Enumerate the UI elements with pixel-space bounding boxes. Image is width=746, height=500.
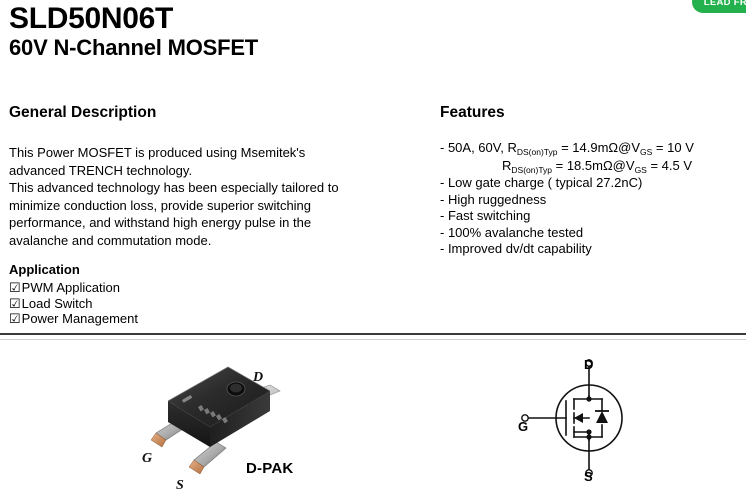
spec1-subscript-1: DS(on)Typ <box>517 147 558 157</box>
application-heading: Application <box>9 262 80 277</box>
feature-bullet: - High ruggedness <box>440 192 740 209</box>
part-number: SLD50N06T <box>9 2 258 35</box>
application-list: ☑PWM Application ☑Load Switch ☑Power Man… <box>9 280 138 327</box>
source-junction-dot <box>586 434 591 439</box>
spec2-subscript-2: GS <box>635 165 647 175</box>
channel-arrow-head <box>574 413 583 423</box>
symbol-pin-label-s: S <box>584 469 593 484</box>
figures-area: D G S D-PAK <box>0 341 746 495</box>
application-item-label: Power Management <box>22 311 138 326</box>
body-diode-arrow <box>596 411 608 423</box>
spec1-suffix: = 10 V <box>652 140 694 155</box>
features-heading: Features <box>440 104 505 122</box>
description-paragraph-2: This advanced technology has been especi… <box>9 179 354 249</box>
package-pin-label-s: S <box>176 478 184 494</box>
mounting-hole-inner <box>230 384 242 393</box>
part-subtitle: 60V N-Channel MOSFET <box>9 35 258 61</box>
application-item: ☑PWM Application <box>9 280 138 296</box>
feature-bullet: - Low gate charge ( typical 27.2nC) <box>440 175 740 192</box>
section-divider-secondary <box>0 339 746 340</box>
spec1-prefix: - 50A, 60V, R <box>440 140 517 155</box>
drain-junction-dot <box>586 396 591 401</box>
spec2-subscript-1: DS(on)Typ <box>511 165 552 175</box>
feature-bullet: - Improved dv/dt capability <box>440 241 740 258</box>
general-description-heading: General Description <box>9 104 156 122</box>
lead-free-badge: LEAD FREE <box>692 0 746 13</box>
feature-bullet: - Fast switching <box>440 208 740 225</box>
spec2-mid: = 18.5mΩ@V <box>552 158 635 173</box>
checked-box-icon: ☑ <box>9 296 21 311</box>
spec2-prefix: R <box>502 158 511 173</box>
checked-box-icon: ☑ <box>9 280 21 295</box>
body-junction-dot <box>586 429 591 434</box>
lead-free-badge-label: LEAD FREE <box>704 0 746 8</box>
package-pin-label-g: G <box>142 451 152 467</box>
description-paragraph-1: This Power MOSFET is produced using Msem… <box>9 144 354 179</box>
package-caption: D-PAK <box>246 460 293 477</box>
spec1-mid: = 14.9mΩ@V <box>557 140 640 155</box>
mosfet-schematic-figure: D G S <box>510 341 680 495</box>
title-block: SLD50N06T 60V N-Channel MOSFET <box>9 2 258 61</box>
section-divider <box>0 333 746 335</box>
application-item-label: PWM Application <box>22 280 120 295</box>
dpak-package-figure: D G S D-PAK <box>120 341 320 495</box>
general-description-body: This Power MOSFET is produced using Msem… <box>9 144 354 249</box>
spec1-subscript-2: GS <box>640 147 652 157</box>
checked-box-icon: ☑ <box>9 311 21 326</box>
symbol-pin-label-g: G <box>518 419 528 434</box>
feature-spec-line-2: RDS(on)Typ = 18.5mΩ@VGS = 4.5 V <box>440 158 740 176</box>
feature-spec-line-1: - 50A, 60V, RDS(on)Typ = 14.9mΩ@VGS = 10… <box>440 140 740 158</box>
symbol-pin-label-d: D <box>584 357 593 372</box>
features-list: - 50A, 60V, RDS(on)Typ = 14.9mΩ@VGS = 10… <box>440 140 740 258</box>
application-item-label: Load Switch <box>22 296 93 311</box>
feature-bullet: - 100% avalanche tested <box>440 225 740 242</box>
mosfet-symbol-image <box>510 341 680 495</box>
application-item: ☑Load Switch <box>9 296 138 312</box>
spec2-suffix: = 4.5 V <box>647 158 692 173</box>
package-pin-label-d: D <box>253 370 263 386</box>
application-item: ☑Power Management <box>9 311 138 327</box>
